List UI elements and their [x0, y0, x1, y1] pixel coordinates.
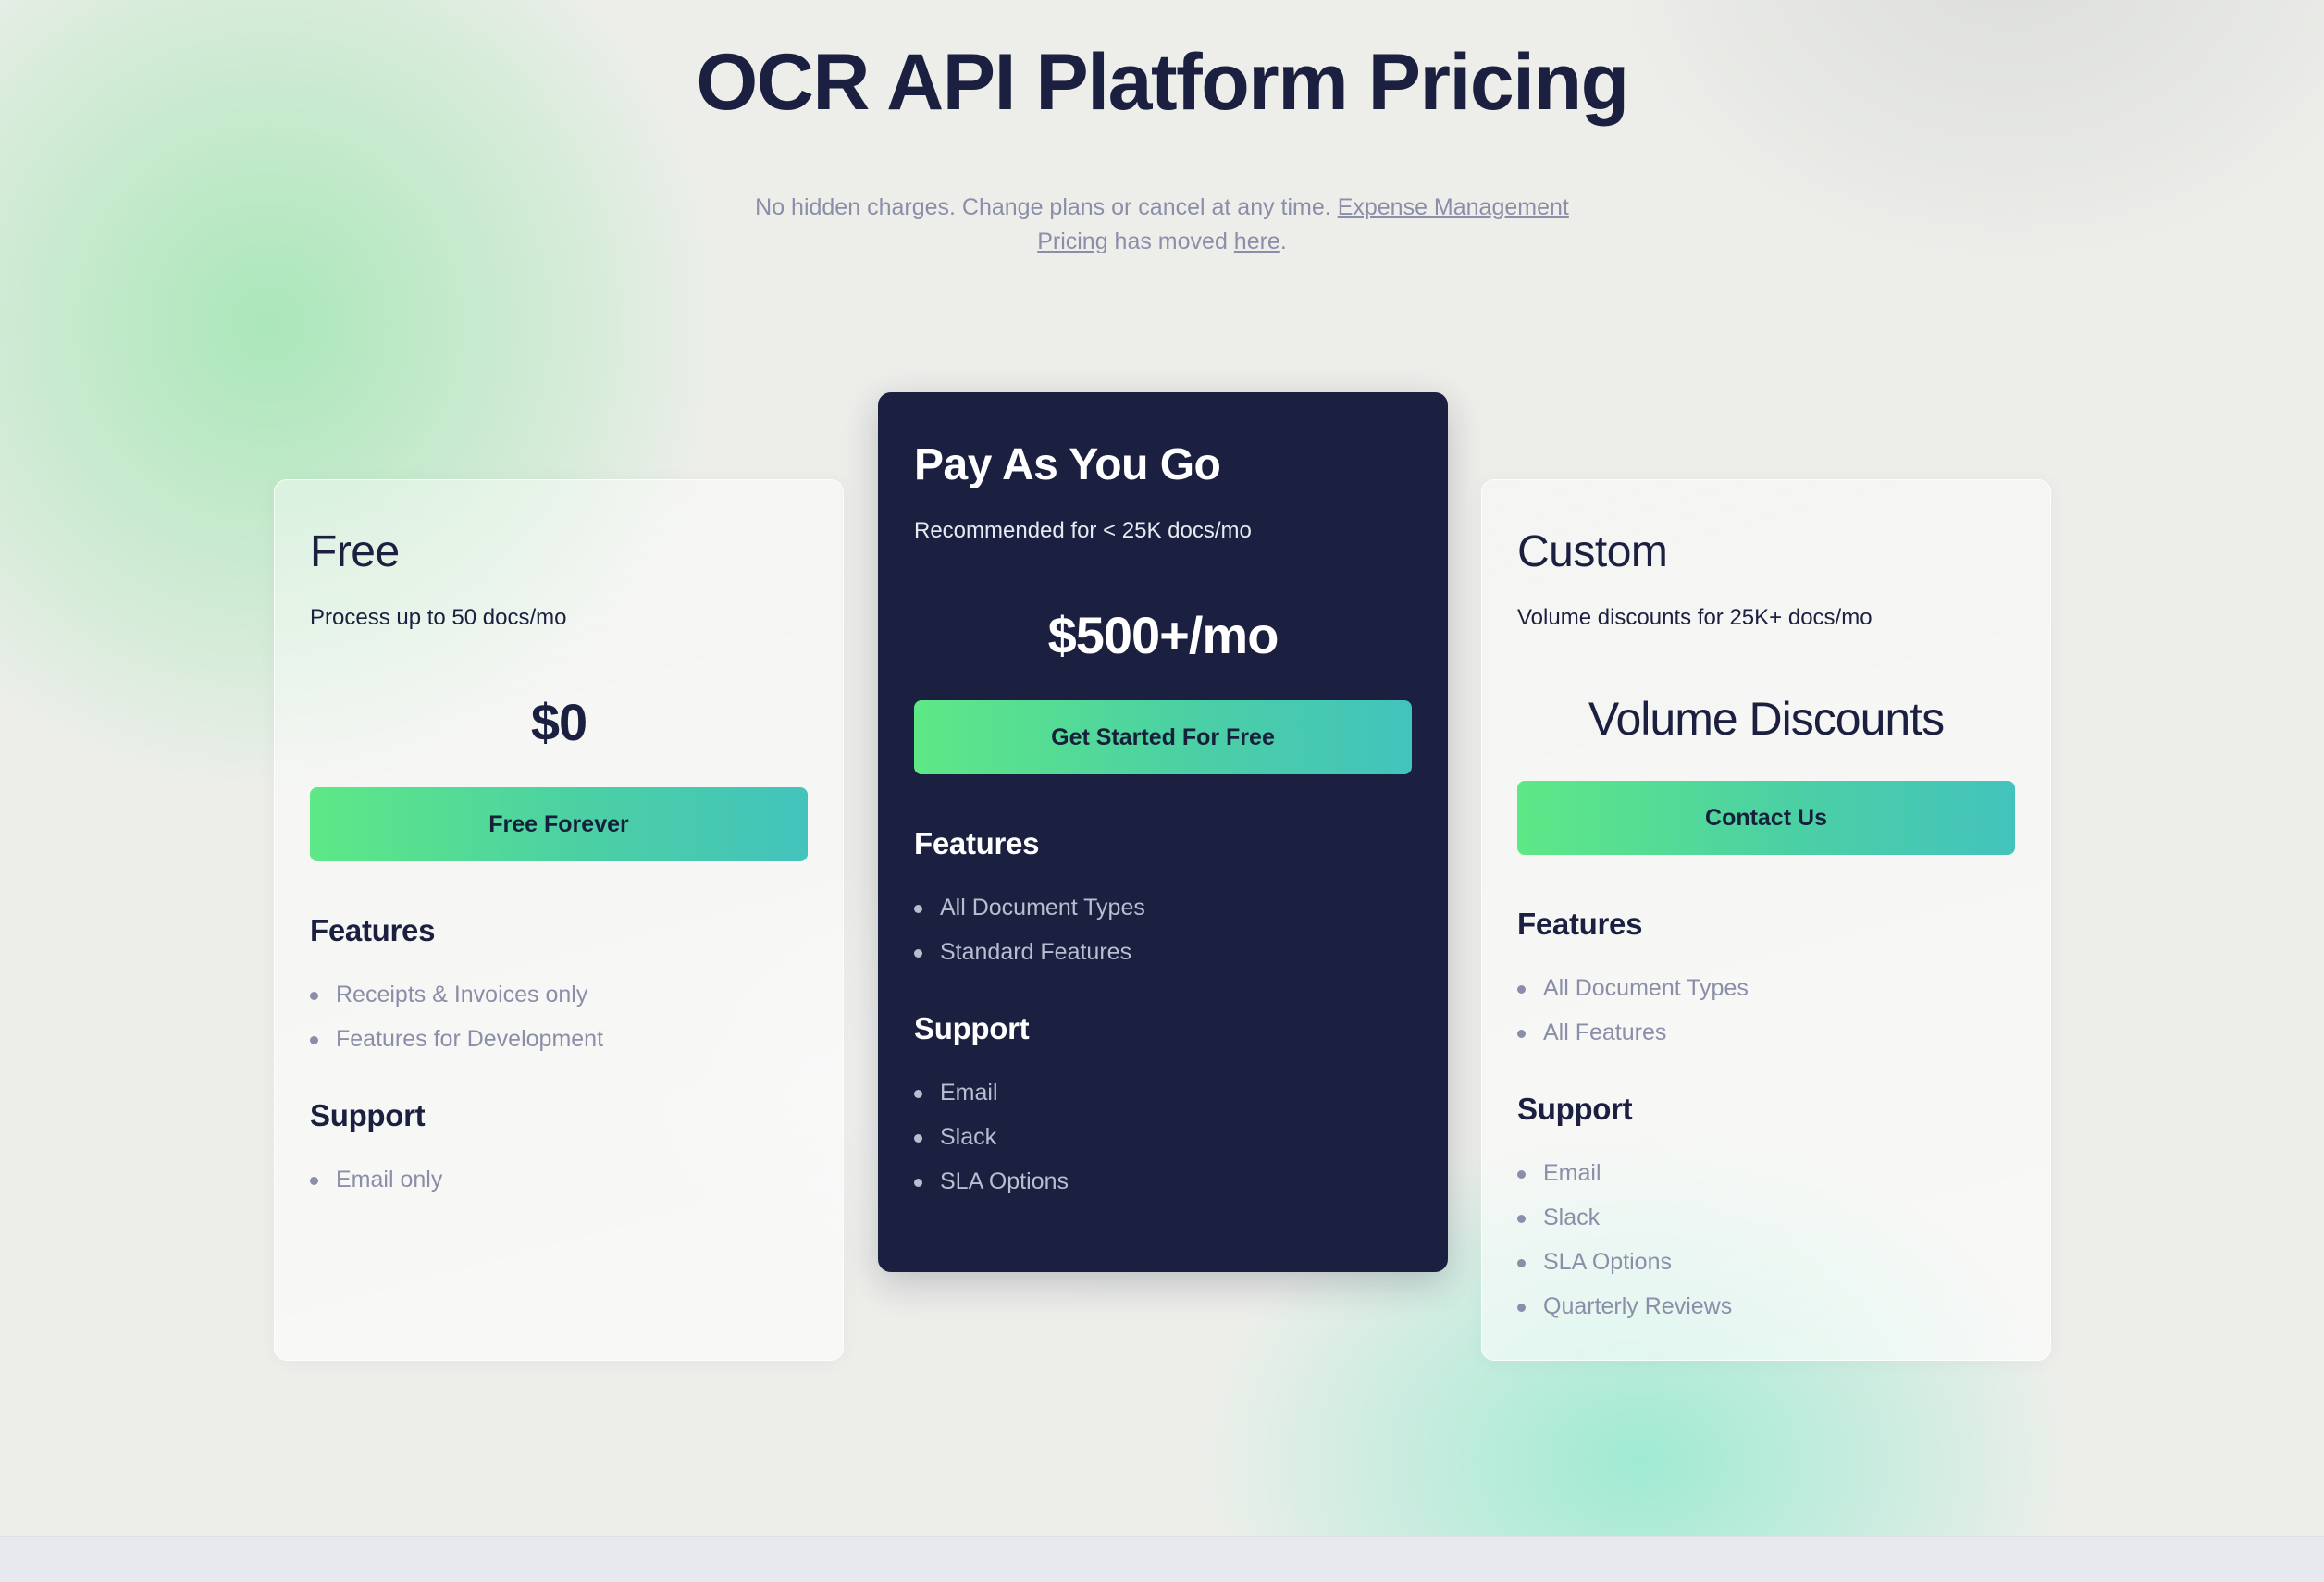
page-title: OCR API Platform Pricing: [0, 37, 2324, 129]
subtitle-text-3: .: [1280, 229, 1287, 254]
support-list-custom: Email Slack SLA Options Quarterly Review…: [1517, 1151, 2015, 1329]
pricing-card-free: Free Process up to 50 docs/mo $0 Free Fo…: [274, 479, 844, 1361]
list-item: All Document Types: [1517, 966, 2015, 1010]
list-item: SLA Options: [1517, 1240, 2015, 1284]
plan-tagline-pay-as-you-go: Recommended for < 25K docs/mo: [914, 518, 1412, 544]
get-started-for-free-button[interactable]: Get Started For Free: [914, 700, 1412, 774]
list-item: Standard Features: [914, 930, 1412, 974]
bullet-dot-icon: [914, 905, 922, 913]
contact-us-button[interactable]: Contact Us: [1517, 781, 2015, 855]
page-subtitle: No hidden charges. Change plans or cance…: [746, 191, 1578, 259]
list-item: Quarterly Reviews: [1517, 1284, 2015, 1329]
plan-name-free: Free: [310, 526, 808, 577]
feature-label: All Document Types: [1543, 975, 1749, 1001]
plan-price-free: $0: [310, 692, 808, 752]
features-list-pay-as-you-go: All Document Types Standard Features: [914, 885, 1412, 974]
bullet-dot-icon: [310, 992, 318, 1000]
pricing-page: OCR API Platform Pricing No hidden charg…: [0, 0, 2324, 1582]
list-item: Receipts & Invoices only: [310, 972, 808, 1017]
bullet-dot-icon: [1517, 1259, 1526, 1267]
bullet-dot-icon: [310, 1036, 318, 1044]
bullet-dot-icon: [914, 1090, 922, 1098]
bullet-dot-icon: [914, 1134, 922, 1143]
subtitle-text-1: No hidden charges. Change plans or cance…: [755, 194, 1338, 220]
support-label: SLA Options: [940, 1168, 1069, 1194]
list-item: Slack: [914, 1115, 1412, 1159]
support-label: Quarterly Reviews: [1543, 1293, 1732, 1319]
support-label: Slack: [940, 1124, 996, 1150]
plan-tagline-custom: Volume discounts for 25K+ docs/mo: [1517, 605, 2015, 631]
list-item: Email: [1517, 1151, 2015, 1195]
bullet-dot-icon: [1517, 985, 1526, 994]
feature-label: All Document Types: [940, 895, 1145, 921]
plan-name-custom: Custom: [1517, 526, 2015, 577]
list-item: Email only: [310, 1157, 808, 1202]
bullet-dot-icon: [1517, 1304, 1526, 1312]
feature-label: Features for Development: [336, 1026, 603, 1052]
support-label: SLA Options: [1543, 1249, 1672, 1275]
subtitle-text-2: has moved: [1108, 229, 1234, 254]
pricing-card-custom: Custom Volume discounts for 25K+ docs/mo…: [1481, 479, 2051, 1361]
plan-price-pay-as-you-go: $500+/mo: [914, 605, 1412, 665]
bullet-dot-icon: [1517, 1030, 1526, 1038]
support-heading-custom: Support: [1517, 1092, 2015, 1127]
free-forever-button[interactable]: Free Forever: [310, 787, 808, 861]
features-heading-free: Features: [310, 913, 808, 948]
support-list-pay-as-you-go: Email Slack SLA Options: [914, 1070, 1412, 1204]
feature-label: Standard Features: [940, 939, 1131, 965]
bullet-dot-icon: [1517, 1170, 1526, 1179]
plan-tagline-free: Process up to 50 docs/mo: [310, 605, 808, 631]
features-list-custom: All Document Types All Features: [1517, 966, 2015, 1055]
bullet-dot-icon: [914, 1179, 922, 1187]
feature-label: Receipts & Invoices only: [336, 982, 587, 1007]
features-list-free: Receipts & Invoices only Features for De…: [310, 972, 808, 1061]
pricing-card-pay-as-you-go: Pay As You Go Recommended for < 25K docs…: [878, 392, 1448, 1272]
list-item: SLA Options: [914, 1159, 1412, 1204]
support-label: Email only: [336, 1167, 442, 1193]
bullet-dot-icon: [914, 949, 922, 958]
plan-name-pay-as-you-go: Pay As You Go: [914, 439, 1412, 490]
bullet-dot-icon: [310, 1177, 318, 1185]
support-heading-pay-as-you-go: Support: [914, 1011, 1412, 1046]
bullet-dot-icon: [1517, 1215, 1526, 1223]
list-item: Features for Development: [310, 1017, 808, 1061]
here-link[interactable]: here: [1234, 229, 1280, 254]
list-item: All Features: [1517, 1010, 2015, 1055]
support-list-free: Email only: [310, 1157, 808, 1202]
support-label: Email: [940, 1080, 998, 1106]
features-heading-pay-as-you-go: Features: [914, 826, 1412, 861]
features-heading-custom: Features: [1517, 907, 2015, 942]
footer-strip: [0, 1536, 2324, 1582]
feature-label: All Features: [1543, 1020, 1666, 1045]
support-label: Slack: [1543, 1205, 1600, 1230]
list-item: All Document Types: [914, 885, 1412, 930]
support-label: Email: [1543, 1160, 1601, 1186]
support-heading-free: Support: [310, 1098, 808, 1133]
plan-price-custom: Volume Discounts: [1517, 692, 2015, 746]
list-item: Email: [914, 1070, 1412, 1115]
list-item: Slack: [1517, 1195, 2015, 1240]
